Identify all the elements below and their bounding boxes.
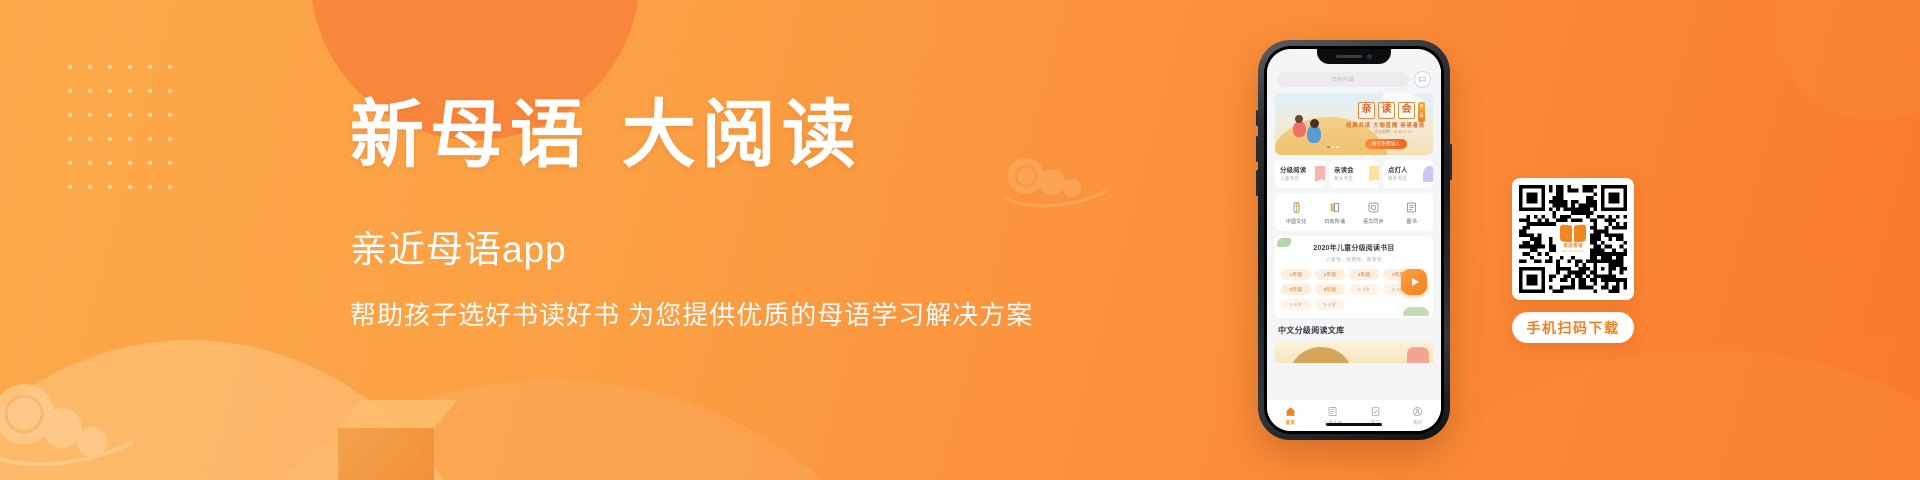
quick-nav-label: 语文同步 [1363, 218, 1384, 225]
entry-card-sub: 家长专区 [1334, 176, 1374, 182]
phone-volume-up [1256, 136, 1258, 162]
hero-char-1: 亲 [1358, 102, 1375, 119]
front-camera-icon [1367, 54, 1372, 59]
culture-icon [1289, 200, 1304, 215]
quick-nav-label: 中国文化 [1286, 218, 1307, 225]
library-arc-decor [1289, 347, 1353, 363]
grade-chip[interactable]: 3年级 [1349, 269, 1379, 280]
booklist-title: 2020年儿童分级阅读书目 [1281, 243, 1427, 253]
tab-label: 首页 [1285, 420, 1295, 426]
app-name: 亲近母语app [350, 228, 1070, 272]
quick-nav-culture[interactable]: 中国文化 [1277, 200, 1316, 225]
qr-center-logo: 亲近母语 QIN JIN MU YU [1556, 222, 1590, 256]
qr-card: 亲近母语 QIN JIN MU YU [1512, 178, 1634, 300]
hero-child-blue [1307, 125, 1321, 143]
decor-arc-right [1740, 330, 1920, 480]
hero-tag-badge: 第二期 [1418, 102, 1425, 122]
phone-bezel: 日有所诵 亲 读 会 [1264, 46, 1444, 434]
study-icon [1369, 405, 1382, 418]
carousel-dot[interactable] [1336, 146, 1339, 149]
quick-nav-sync[interactable]: 语文同步 [1354, 200, 1393, 225]
recite-icon [1327, 200, 1342, 215]
decor-dot-grid [60, 55, 180, 205]
entry-card-sub: 教师专区 [1388, 176, 1428, 182]
booklist-subtitle: 儿童性、经典性、教育性 [1281, 256, 1427, 263]
search-input[interactable]: 日有所诵 [1277, 72, 1409, 87]
app-booklist-module: 2020年儿童分级阅读书目 儿童性、经典性、教育性 1年级 2年级 3年级 4年… [1275, 236, 1433, 318]
hero-join-button[interactable]: 报名免费加入 [1365, 139, 1407, 149]
banner-tagline: 帮助孩子选好书读好书 为您提供优质的母语学习解决方案 [350, 298, 1070, 332]
entry-card-title: 点灯人 [1388, 165, 1428, 174]
book-logo-icon [1560, 225, 1586, 242]
app-entry-cards: 分级阅读 儿童专区 亲读会 家长专区 点灯人 教师专区 [1275, 160, 1433, 188]
age-chip[interactable]: 4-5岁 [1281, 299, 1311, 310]
download-button[interactable]: 手机扫码下载 [1512, 312, 1634, 343]
play-video-icon[interactable] [1401, 269, 1427, 295]
qr-logo-pinyin: QIN JIN MU YU [1562, 250, 1584, 253]
hero-carousel-dots[interactable] [1327, 146, 1339, 149]
qr-logo-name: 亲近母语 [1563, 243, 1583, 249]
entry-card-parent-club[interactable]: 亲读会 家长专区 [1329, 160, 1379, 188]
tab-label: 我的 [1413, 420, 1423, 426]
entry-card-sub: 儿童专区 [1280, 176, 1320, 182]
promo-banner: 新母语 大阅读 亲近母语app 帮助孩子选好书读好书 为您提供优质的母语学习解决… [0, 0, 1920, 480]
hero-char-3: 会 [1398, 102, 1415, 119]
page-title: 新母语 大阅读 [350, 92, 1070, 178]
grade-chip[interactable]: 5年级 [1281, 284, 1311, 295]
hero-child-red [1293, 121, 1306, 137]
message-icon[interactable] [1414, 71, 1431, 88]
grade-chip[interactable]: 6年级 [1315, 284, 1345, 295]
entry-card-graded-reading[interactable]: 分级阅读 儿童专区 [1275, 160, 1325, 188]
grade-chip[interactable]: 1年级 [1281, 269, 1311, 280]
phone-notch [1317, 49, 1391, 64]
grade-chip[interactable]: 2年级 [1315, 269, 1345, 280]
library-card[interactable] [1275, 341, 1433, 363]
carousel-dot-active[interactable] [1327, 146, 1330, 149]
banner-copy: 新母语 大阅读 亲近母语app 帮助孩子选好书读好书 为您提供优质的母语学习解决… [350, 92, 1070, 332]
phone-volume-down [1256, 170, 1258, 196]
age-chip[interactable]: 0-3岁 [1349, 284, 1379, 295]
entry-card-teacher[interactable]: 点灯人 教师专区 [1383, 160, 1433, 188]
entry-card-title: 分级阅读 [1280, 165, 1320, 174]
hero-subtitle: 经典共读 大咖直播 亲读者说 [1346, 121, 1425, 129]
phone-screen: 日有所诵 亲 读 会 [1267, 49, 1441, 431]
quick-nav-books[interactable]: 图书 [1393, 200, 1432, 225]
phone-mockup: 日有所诵 亲 读 会 [1258, 40, 1450, 440]
people-purple-icon [1423, 166, 1433, 182]
quick-nav-label: 图书 [1407, 218, 1417, 225]
age-chip[interactable]: 5-6岁 [1315, 299, 1345, 310]
quick-nav-recite[interactable]: 日有所诵 [1316, 200, 1355, 225]
earpiece-speaker-icon [1336, 55, 1362, 58]
phone-mute-switch [1256, 110, 1258, 126]
app-hero-banner[interactable]: 亲 读 会 第二期 经典共读 大咖直播 亲读者说 活动周期：9.16-9.27 … [1275, 93, 1433, 155]
decor-cube [338, 426, 434, 480]
tab-profile[interactable]: 我的 [1397, 401, 1440, 426]
booklist-grade-chips: 1年级 2年级 3年级 4年级 5年级 6年级 0-3岁 3-4岁 4-5岁 5… [1281, 269, 1427, 310]
book-icon [1404, 200, 1419, 215]
reading-icon [1326, 405, 1339, 418]
library-pink-decor [1407, 347, 1429, 363]
sync-icon [1366, 200, 1381, 215]
qr-download-block: 亲近母语 QIN JIN MU YU 手机扫码下载 [1512, 178, 1634, 343]
tab-home[interactable]: 首页 [1269, 401, 1312, 426]
carousel-dot[interactable] [1332, 146, 1335, 149]
decor-circle-top-right [1770, 0, 1920, 120]
phone-power-button [1450, 144, 1452, 180]
app-tab-bar: 首页 小步读书 学习 [1267, 399, 1441, 431]
hero-date: 活动周期：9.16-9.27 [1374, 130, 1413, 135]
decor-hill-left-back [170, 380, 930, 480]
cloud-motif-icon [0, 356, 162, 466]
tab-reading[interactable]: 小步读书 [1312, 401, 1355, 426]
app-quick-nav: 中国文化 日有所诵 语文同步 [1275, 193, 1433, 231]
home-indicator [1326, 423, 1382, 426]
quick-nav-label: 日有所诵 [1324, 218, 1345, 225]
hero-char-2: 读 [1378, 102, 1395, 119]
entry-card-title: 亲读会 [1334, 165, 1374, 174]
hero-title: 亲 读 会 第二期 [1358, 102, 1425, 122]
tab-study[interactable]: 学习 [1354, 401, 1397, 426]
library-title: 中文分级阅读文库 [1275, 323, 1433, 336]
bookmark-red-icon [1315, 166, 1325, 182]
profile-icon [1411, 405, 1424, 418]
bookmark-yellow-icon [1369, 166, 1379, 182]
app-search-row: 日有所诵 [1275, 71, 1433, 88]
home-icon [1284, 405, 1297, 418]
app-content: 日有所诵 亲 读 会 [1267, 49, 1441, 431]
